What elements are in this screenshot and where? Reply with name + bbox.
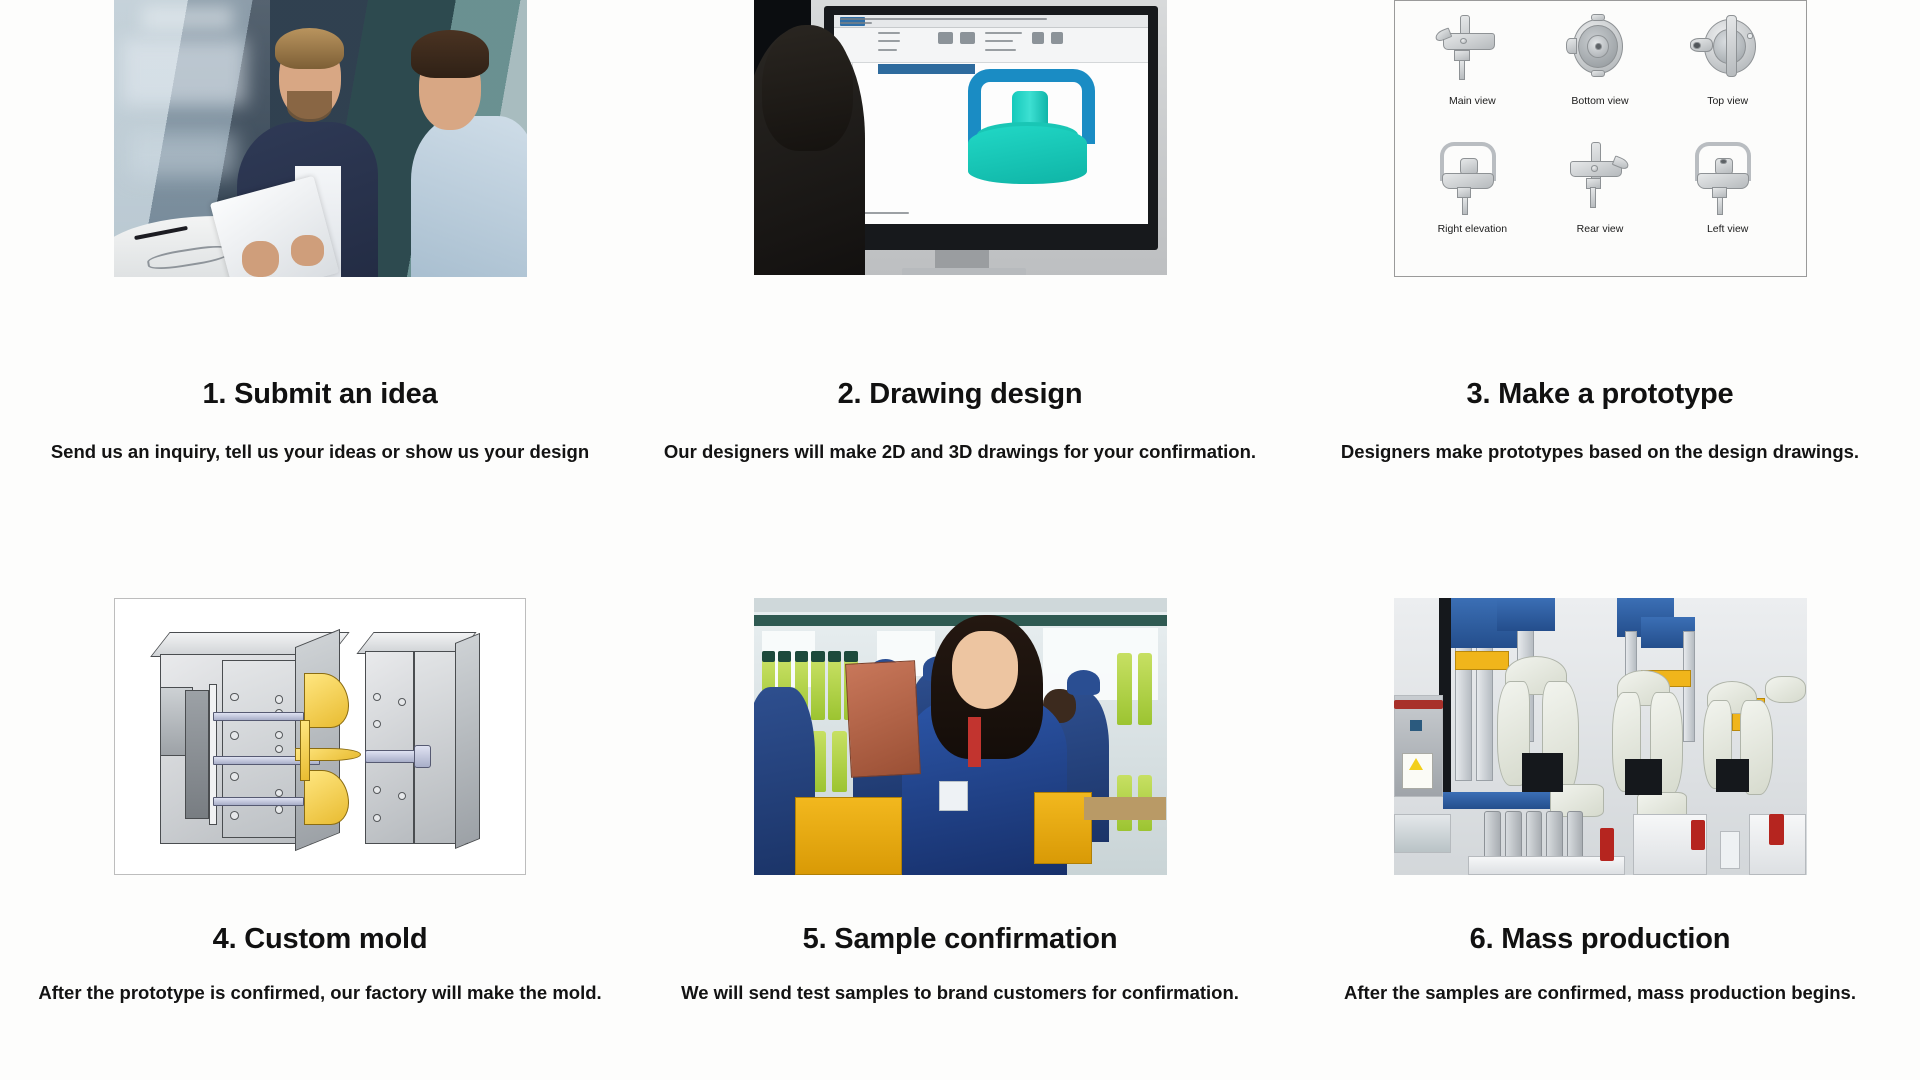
fire-extinguisher bbox=[1600, 828, 1614, 861]
bottle-cap bbox=[795, 651, 808, 662]
man-blue-shirt-body bbox=[411, 116, 527, 277]
left-view-figure bbox=[1683, 141, 1773, 219]
cad-menu-text bbox=[840, 22, 871, 24]
step-5-title: 5. Sample confirmation bbox=[803, 925, 1118, 954]
id-badge bbox=[939, 781, 968, 811]
lanyard bbox=[968, 717, 980, 767]
cad-menu-text bbox=[840, 18, 1047, 20]
hand bbox=[291, 235, 324, 265]
cad-toolbar-icon[interactable] bbox=[1032, 32, 1045, 45]
cabinet-indicator bbox=[1410, 720, 1422, 731]
step-2-title: 2. Drawing design bbox=[838, 380, 1083, 409]
main-view-figure bbox=[1427, 13, 1517, 91]
cad-ribbon-text bbox=[878, 32, 900, 34]
warning-sign bbox=[1402, 753, 1433, 789]
cad-ribbon-text bbox=[878, 49, 897, 51]
step-4-media-wrap bbox=[0, 540, 640, 885]
step-3-title: 3. Make a prototype bbox=[1467, 380, 1734, 409]
step-card-1: 1. Submit an idea Send us an inquiry, te… bbox=[0, 0, 640, 540]
green-bottle bbox=[828, 659, 841, 720]
step-3-description: Designers make prototypes based on the d… bbox=[1341, 441, 1859, 463]
view-left: Left view bbox=[1664, 141, 1792, 269]
view-label: Top view bbox=[1707, 95, 1748, 107]
bottle-cap bbox=[844, 651, 857, 662]
right-elevation-figure bbox=[1427, 141, 1517, 219]
hand bbox=[242, 241, 279, 277]
step-3-media-wrap: Main view Bottom view bbox=[1280, 0, 1920, 338]
fire-extinguisher bbox=[1691, 820, 1705, 850]
view-label: Left view bbox=[1707, 223, 1748, 235]
step-1-media-wrap bbox=[0, 0, 640, 338]
view-label: Right elevation bbox=[1438, 223, 1507, 235]
view-right-elevation: Right elevation bbox=[1409, 141, 1537, 269]
cad-software-screen bbox=[834, 15, 1148, 224]
step-2-media-wrap: DELL bbox=[640, 0, 1280, 338]
step-3-orthographic-view-sheet: Main view Bottom view bbox=[1394, 0, 1807, 277]
cad-toolbar-icon[interactable] bbox=[938, 32, 954, 45]
cad-ribbon-text bbox=[878, 40, 900, 42]
top-view-figure bbox=[1683, 13, 1773, 91]
step-4-description: After the prototype is confirmed, our fa… bbox=[38, 982, 601, 1004]
step-2-photo-cad-monitor: DELL bbox=[754, 0, 1167, 275]
model-base bbox=[968, 126, 1086, 185]
green-bottle bbox=[1138, 653, 1153, 725]
cad-3d-model-bottle-cap[interactable] bbox=[960, 69, 1104, 186]
view-label: Rear view bbox=[1577, 223, 1624, 235]
work-table bbox=[1394, 814, 1452, 853]
robot-end-effector bbox=[1625, 759, 1662, 795]
robot-end-effector bbox=[1716, 759, 1749, 792]
injection-mold-illustration bbox=[115, 599, 525, 874]
step-4-mold-diagram bbox=[114, 598, 526, 875]
step-card-4: 4. Custom mold After the prototype is co… bbox=[0, 540, 640, 1080]
rear-view-figure bbox=[1555, 141, 1645, 219]
orthographic-views-grid: Main view Bottom view bbox=[1395, 1, 1806, 276]
bottom-view-figure bbox=[1555, 13, 1645, 91]
bottle-cap bbox=[828, 651, 841, 662]
step-card-2: DELL bbox=[640, 0, 1280, 540]
step-5-description: We will send test samples to brand custo… bbox=[681, 982, 1239, 1004]
man-navy-suit-hair bbox=[275, 28, 343, 70]
ceiling bbox=[754, 598, 1167, 612]
workbench bbox=[1084, 797, 1167, 819]
view-main: Main view bbox=[1409, 13, 1537, 141]
cabinet-red-stripe bbox=[1394, 700, 1444, 708]
man-navy-suit-beard bbox=[287, 91, 332, 121]
monitor-foot bbox=[902, 268, 1026, 275]
step-2-description: Our designers will make 2D and 3D drawin… bbox=[664, 441, 1256, 463]
cad-toolbar-icon[interactable] bbox=[1051, 32, 1064, 45]
robot-arm-shoulder bbox=[1765, 676, 1806, 704]
green-bottle bbox=[811, 659, 824, 720]
process-steps-grid: 1. Submit an idea Send us an inquiry, te… bbox=[0, 0, 1920, 1080]
green-bottle bbox=[1117, 653, 1132, 725]
view-label: Main view bbox=[1449, 95, 1496, 107]
view-rear: Rear view bbox=[1536, 141, 1664, 269]
cad-menu-bar[interactable] bbox=[834, 15, 1148, 28]
person-head bbox=[762, 25, 853, 152]
warning-triangle-icon bbox=[1409, 758, 1423, 770]
green-bottle bbox=[832, 731, 847, 792]
bottle-cap bbox=[778, 651, 791, 662]
machine-column bbox=[1683, 631, 1695, 742]
robot-end-effector bbox=[1522, 753, 1563, 792]
step-card-3: Main view Bottom view bbox=[1280, 0, 1920, 540]
view-bottom: Bottom view bbox=[1536, 13, 1664, 141]
step-5-photo-factory-worker bbox=[754, 598, 1167, 875]
step-card-6: 6. Mass production After the samples are… bbox=[1280, 540, 1920, 1080]
step-5-media-wrap bbox=[640, 540, 1280, 885]
fire-extinguisher bbox=[1769, 814, 1783, 844]
step-6-title: 6. Mass production bbox=[1470, 925, 1731, 954]
worker-cap bbox=[1067, 670, 1100, 695]
cad-ribbon-text bbox=[985, 40, 1013, 42]
cad-ribbon-text bbox=[985, 49, 1016, 51]
control-screen[interactable] bbox=[1720, 831, 1741, 870]
blue-press-unit bbox=[1497, 598, 1555, 631]
cad-toolbar-icon[interactable] bbox=[960, 32, 976, 45]
yellow-gripper-rail bbox=[1455, 651, 1509, 670]
step-card-5: 5. Sample confirmation We will send test… bbox=[640, 540, 1280, 1080]
bottle-cap bbox=[811, 651, 824, 662]
step-6-description: After the samples are confirmed, mass pr… bbox=[1344, 982, 1856, 1004]
view-top: Top view bbox=[1664, 13, 1792, 141]
view-label: Bottom view bbox=[1571, 95, 1628, 107]
man-blue-shirt-hair bbox=[411, 30, 489, 77]
bottle-cap bbox=[762, 651, 775, 662]
cad-ribbon-text bbox=[985, 32, 1023, 34]
step-6-photo-robot-line bbox=[1394, 598, 1807, 875]
conveyor-belt bbox=[1443, 792, 1550, 809]
main-worker-face bbox=[952, 631, 1018, 709]
step-1-title: 1. Submit an idea bbox=[202, 380, 437, 409]
step-1-description: Send us an inquiry, tell us your ideas o… bbox=[51, 441, 589, 463]
step-4-title: 4. Custom mold bbox=[213, 925, 428, 954]
sample-carton bbox=[846, 660, 922, 777]
yellow-crate bbox=[795, 797, 902, 875]
step-6-media-wrap bbox=[1280, 540, 1920, 885]
step-1-photo-businessmen bbox=[114, 0, 527, 277]
